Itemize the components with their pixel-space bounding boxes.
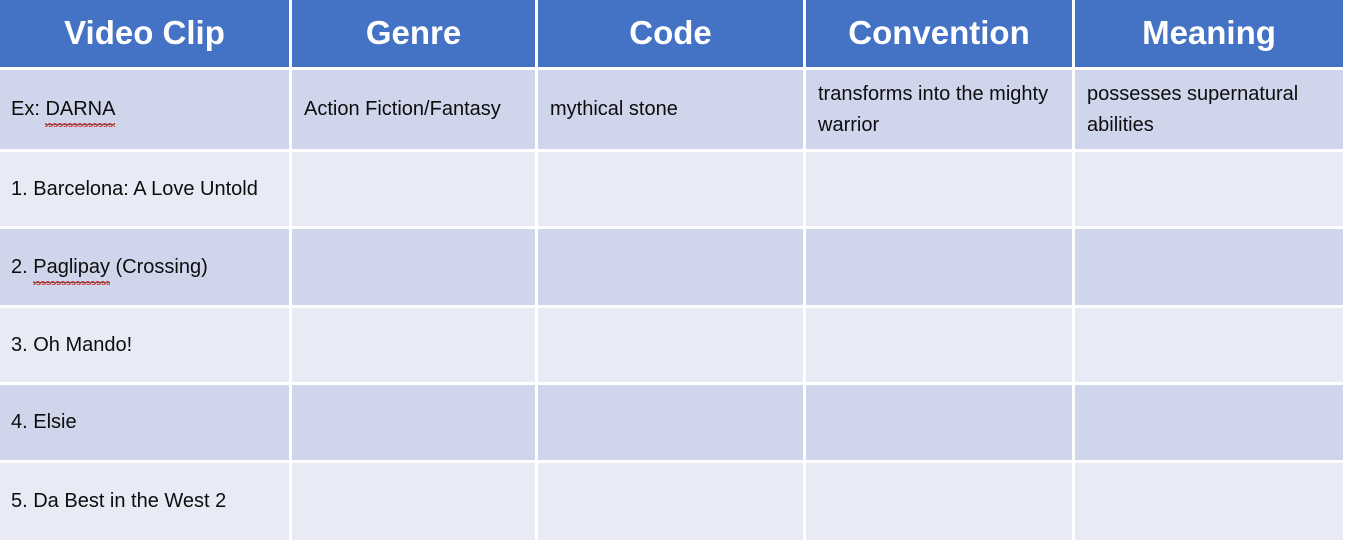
cell-code[interactable] bbox=[538, 385, 806, 463]
table-body: Ex: DARNA Action Fiction/Fantasy mythica… bbox=[0, 70, 1343, 543]
cell-convention[interactable] bbox=[806, 229, 1075, 308]
cell-genre[interactable] bbox=[292, 308, 538, 385]
table-row: 5. Da Best in the West 2 bbox=[0, 463, 1343, 543]
cell-code[interactable] bbox=[538, 463, 806, 543]
cell-meaning[interactable] bbox=[1075, 229, 1343, 308]
spellcheck-misspelled-word: DARNA bbox=[45, 94, 115, 125]
column-header-convention: Convention bbox=[806, 0, 1075, 70]
spellcheck-misspelled-word: Paglipay bbox=[33, 252, 110, 283]
clip-text-prefix: 3. Oh Mando! bbox=[11, 334, 132, 356]
cell-convention[interactable]: transforms into the mighty warrior bbox=[806, 70, 1075, 152]
cell-meaning[interactable] bbox=[1075, 463, 1343, 543]
clip-text-prefix: 1. Barcelona: A Love Untold bbox=[11, 178, 258, 200]
cell-video-clip[interactable]: 5. Da Best in the West 2 bbox=[0, 463, 292, 543]
cell-convention[interactable] bbox=[806, 152, 1075, 229]
cell-meaning[interactable]: possesses supernatural abilities bbox=[1075, 70, 1343, 152]
cell-genre[interactable] bbox=[292, 229, 538, 308]
worksheet-table-container: Video Clip Genre Code Convention Meaning… bbox=[0, 0, 1348, 545]
column-header-video-clip: Video Clip bbox=[0, 0, 292, 70]
clip-text-prefix: 2. bbox=[11, 256, 33, 278]
cell-meaning[interactable] bbox=[1075, 152, 1343, 229]
table-header-row: Video Clip Genre Code Convention Meaning bbox=[0, 0, 1343, 70]
column-header-genre: Genre bbox=[292, 0, 538, 70]
column-header-code: Code bbox=[538, 0, 806, 70]
cell-video-clip[interactable]: 1. Barcelona: A Love Untold bbox=[0, 152, 292, 229]
cell-code[interactable] bbox=[538, 152, 806, 229]
clip-text-suffix: (Crossing) bbox=[110, 256, 208, 278]
cell-code[interactable] bbox=[538, 229, 806, 308]
cell-convention[interactable] bbox=[806, 385, 1075, 463]
table-row: 2. Paglipay (Crossing) bbox=[0, 229, 1343, 308]
cell-genre[interactable] bbox=[292, 385, 538, 463]
cell-meaning[interactable] bbox=[1075, 385, 1343, 463]
cell-convention[interactable] bbox=[806, 308, 1075, 385]
column-header-meaning: Meaning bbox=[1075, 0, 1343, 70]
table-row: 3. Oh Mando! bbox=[0, 308, 1343, 385]
cell-video-clip[interactable]: 4. Elsie bbox=[0, 385, 292, 463]
cell-video-clip[interactable]: 2. Paglipay (Crossing) bbox=[0, 229, 292, 308]
cell-code[interactable] bbox=[538, 308, 806, 385]
cell-video-clip[interactable]: 3. Oh Mando! bbox=[0, 308, 292, 385]
cell-code[interactable]: mythical stone bbox=[538, 70, 806, 152]
clip-text-prefix: Ex: bbox=[11, 98, 45, 120]
table-header: Video Clip Genre Code Convention Meaning bbox=[0, 0, 1343, 70]
table-row: Ex: DARNA Action Fiction/Fantasy mythica… bbox=[0, 70, 1343, 152]
cell-genre[interactable] bbox=[292, 152, 538, 229]
table-row: 4. Elsie bbox=[0, 385, 1343, 463]
cell-genre[interactable] bbox=[292, 463, 538, 543]
cell-convention[interactable] bbox=[806, 463, 1075, 543]
cell-video-clip[interactable]: Ex: DARNA bbox=[0, 70, 292, 152]
clip-text-prefix: 4. Elsie bbox=[11, 411, 77, 433]
table-row: 1. Barcelona: A Love Untold bbox=[0, 152, 1343, 229]
cell-genre[interactable]: Action Fiction/Fantasy bbox=[292, 70, 538, 152]
cell-meaning[interactable] bbox=[1075, 308, 1343, 385]
media-analysis-table: Video Clip Genre Code Convention Meaning… bbox=[0, 0, 1343, 543]
clip-text-prefix: 5. Da Best in the West 2 bbox=[11, 490, 226, 512]
